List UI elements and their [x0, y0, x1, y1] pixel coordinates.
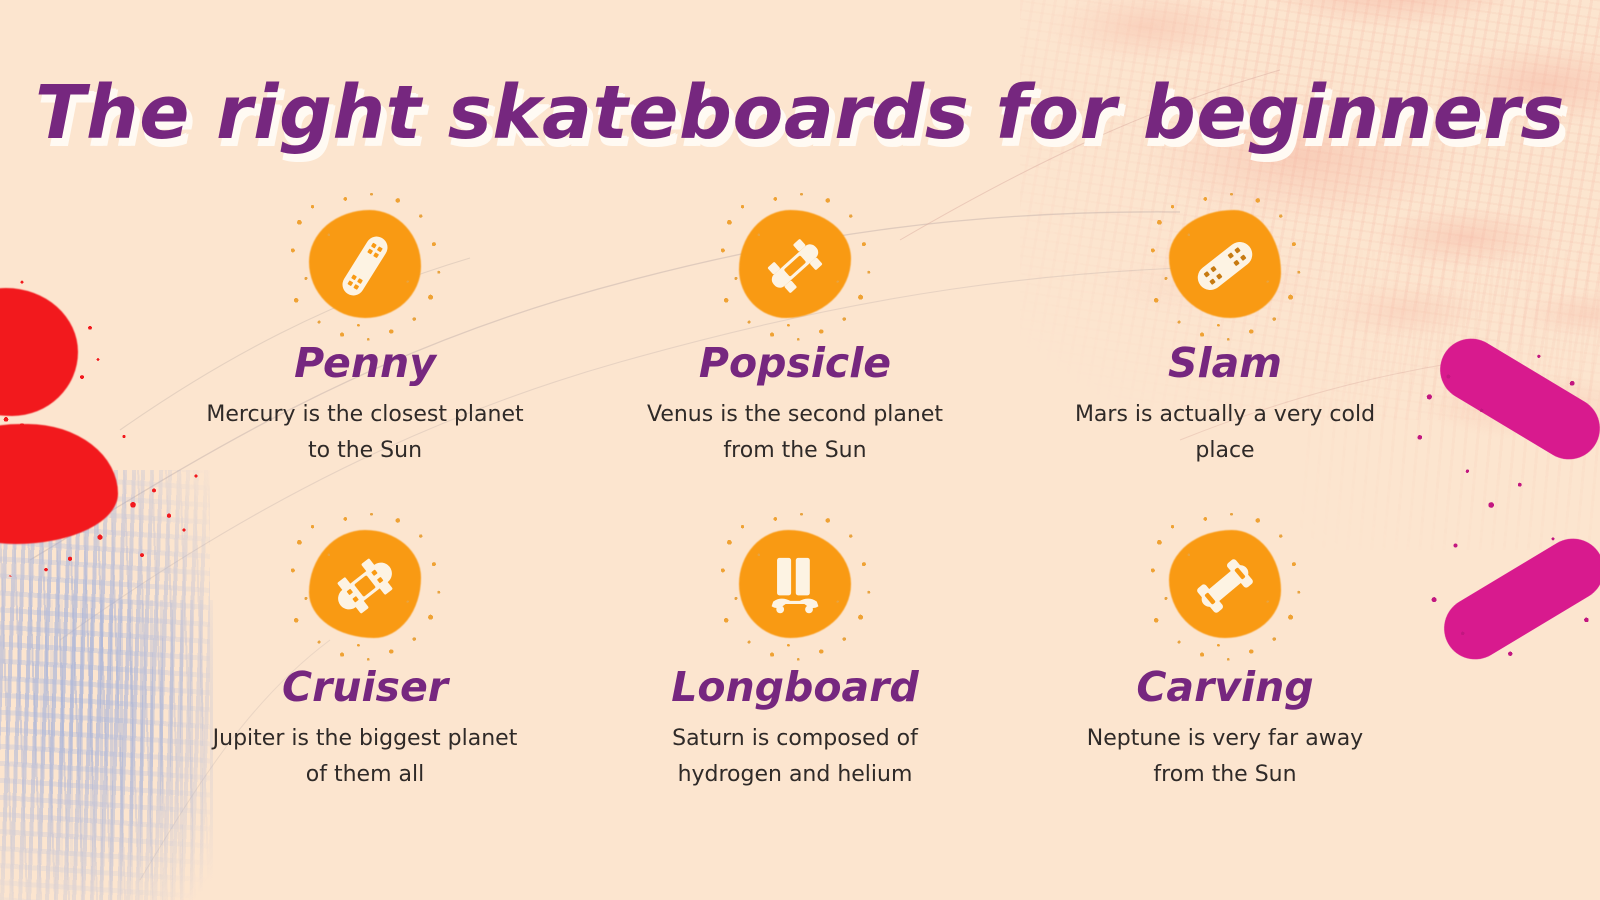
icon-blob-longboard [725, 520, 865, 652]
magenta-arrow-upper-stroke [1429, 327, 1600, 471]
cruiser-board-icon [326, 547, 404, 625]
magenta-arrow-lower-stroke [1433, 527, 1600, 671]
card-title: Cruiser [282, 666, 448, 709]
card-description: Mercury is the closest planet to the Sun [200, 397, 530, 468]
skateboard-deck-icon [326, 227, 404, 305]
feature-grid: Penny Mercury is the closest planet to t… [150, 200, 1440, 840]
red-spray-blob-lower [0, 424, 118, 544]
feature-card-penny: Penny Mercury is the closest planet to t… [150, 200, 580, 520]
longboard-axle-icon [1186, 547, 1264, 625]
feature-card-longboard: Longboard Saturn is composed of hydrogen… [580, 520, 1010, 840]
card-title: Popsicle [699, 342, 891, 385]
feature-card-popsicle: Popsicle Venus is the second planet from… [580, 200, 1010, 520]
red-spray-blob-upper [0, 288, 78, 416]
red-spray-speckles-upper [0, 268, 110, 444]
feature-card-carving: Carving Neptune is very far away from th… [1010, 520, 1440, 840]
card-title: Longboard [671, 666, 919, 709]
feature-card-slam: Slam Mars is actually a very cold place [1010, 200, 1440, 520]
icon-blob-penny [295, 200, 435, 332]
icon-blob-slam [1155, 200, 1295, 332]
skateboard-trucks-icon [756, 227, 834, 305]
icon-blob-popsicle [725, 200, 865, 332]
card-description: Mars is actually a very cold place [1060, 397, 1390, 468]
card-title: Penny [294, 342, 436, 385]
slide-canvas: The right skateboards for beginners [0, 0, 1600, 900]
card-description: Saturn is composed of hydrogen and heliu… [630, 721, 960, 792]
card-description: Jupiter is the biggest planet of them al… [200, 721, 530, 792]
slide-title: The right skateboards for beginners [0, 76, 1600, 150]
card-title: Slam [1168, 342, 1282, 385]
skateboard-bolts-icon [1186, 227, 1264, 305]
icon-blob-cruiser [295, 520, 435, 652]
icon-blob-carving [1155, 520, 1295, 652]
feature-card-cruiser: Cruiser Jupiter is the biggest planet of… [150, 520, 580, 840]
feet-on-board-icon [756, 547, 834, 625]
card-description: Venus is the second planet from the Sun [630, 397, 960, 468]
card-description: Neptune is very far away from the Sun [1060, 721, 1390, 792]
card-title: Carving [1136, 666, 1313, 709]
